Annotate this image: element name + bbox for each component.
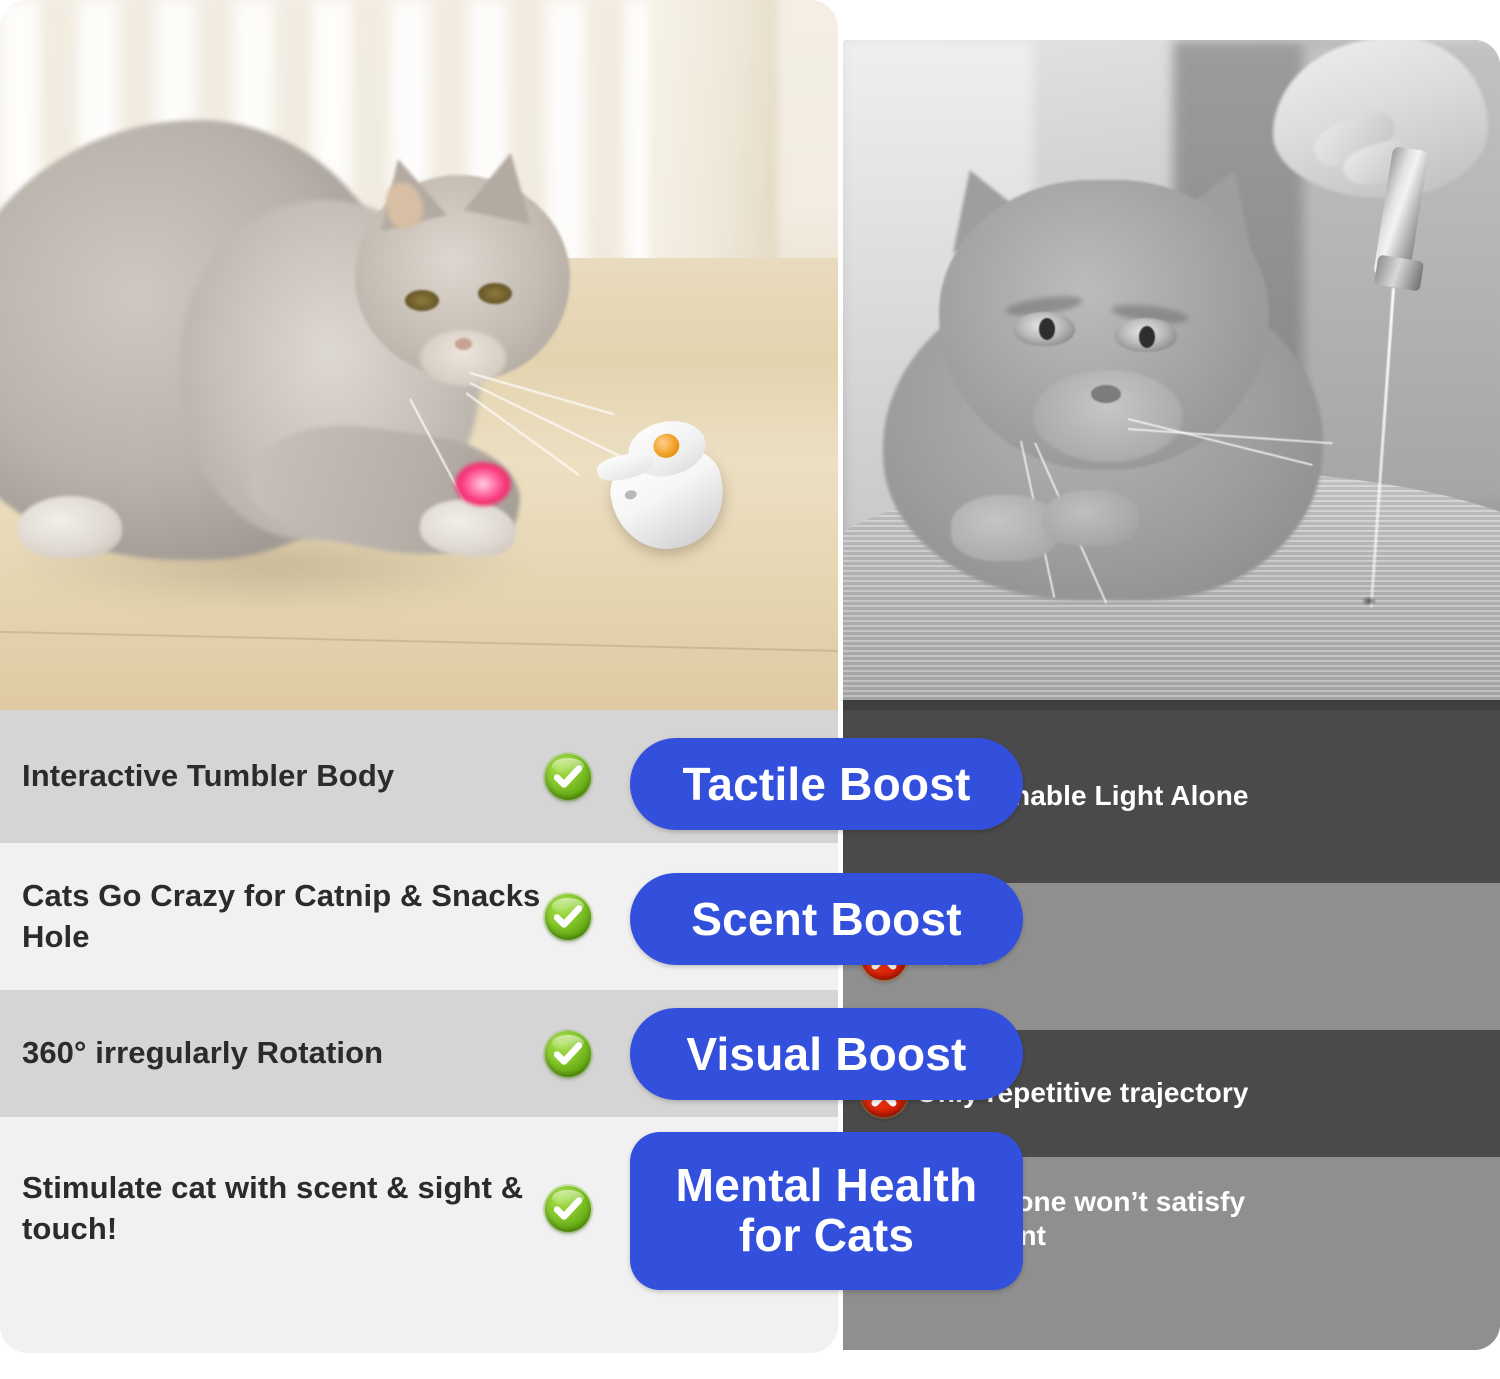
green-check-icon [545, 754, 591, 800]
tumbler-cat-toy [588, 413, 741, 562]
cat-pupil-left [1039, 318, 1055, 340]
cat-playing-with-tumbler-toy-photo [0, 0, 838, 710]
feature-text-3: 360° irregularly Rotation [0, 1033, 545, 1074]
feature-text-1: Interactive Tumbler Body [0, 756, 545, 797]
green-check-icon [545, 1031, 591, 1077]
shorthair-cat-nose [1091, 385, 1121, 403]
cat-ignoring-laser-pointer-photo [843, 40, 1500, 710]
photo-bottom-edge [843, 700, 1500, 710]
badge-visual-boost[interactable]: Visual Boost [630, 1008, 1023, 1100]
green-check-icon [545, 1186, 591, 1232]
laser-beam-dot [1361, 596, 1377, 606]
badge-scent-boost-label: Scent Boost [691, 892, 962, 946]
cat-ear-right [464, 146, 544, 225]
floor-plank-line [0, 630, 838, 654]
badge-visual-boost-label: Visual Boost [686, 1027, 966, 1081]
badge-tactile-boost-label: Tactile Boost [682, 757, 970, 811]
badge-tactile-boost[interactable]: Tactile Boost [630, 738, 1023, 830]
product-comparison-infographic: Interactive Tumbler Body Cats Go Crazy f… [0, 0, 1500, 1379]
laser-dot [455, 462, 511, 506]
feature-text-2: Cats Go Crazy for Catnip & Snacks Hole [0, 876, 545, 958]
cat-pupil-right [1139, 326, 1155, 348]
badge-mental-health-line1: Mental Health [676, 1161, 978, 1211]
cat-eye-right [478, 283, 512, 304]
shorthair-cat-muzzle [1033, 370, 1183, 462]
feature-text-4: Stimulate cat with scent & sight & touch… [0, 1168, 545, 1250]
badge-mental-health-line2: for Cats [739, 1211, 914, 1261]
cat-eye-left [405, 290, 439, 311]
shorthair-cat-paw-right [1043, 490, 1139, 546]
badge-scent-boost[interactable]: Scent Boost [630, 873, 1023, 965]
cat-nose [455, 338, 472, 350]
cat-paw-rear [18, 496, 122, 558]
green-check-icon [545, 894, 591, 940]
badge-mental-health-for-cats[interactable]: Mental Health for Cats [630, 1132, 1023, 1290]
